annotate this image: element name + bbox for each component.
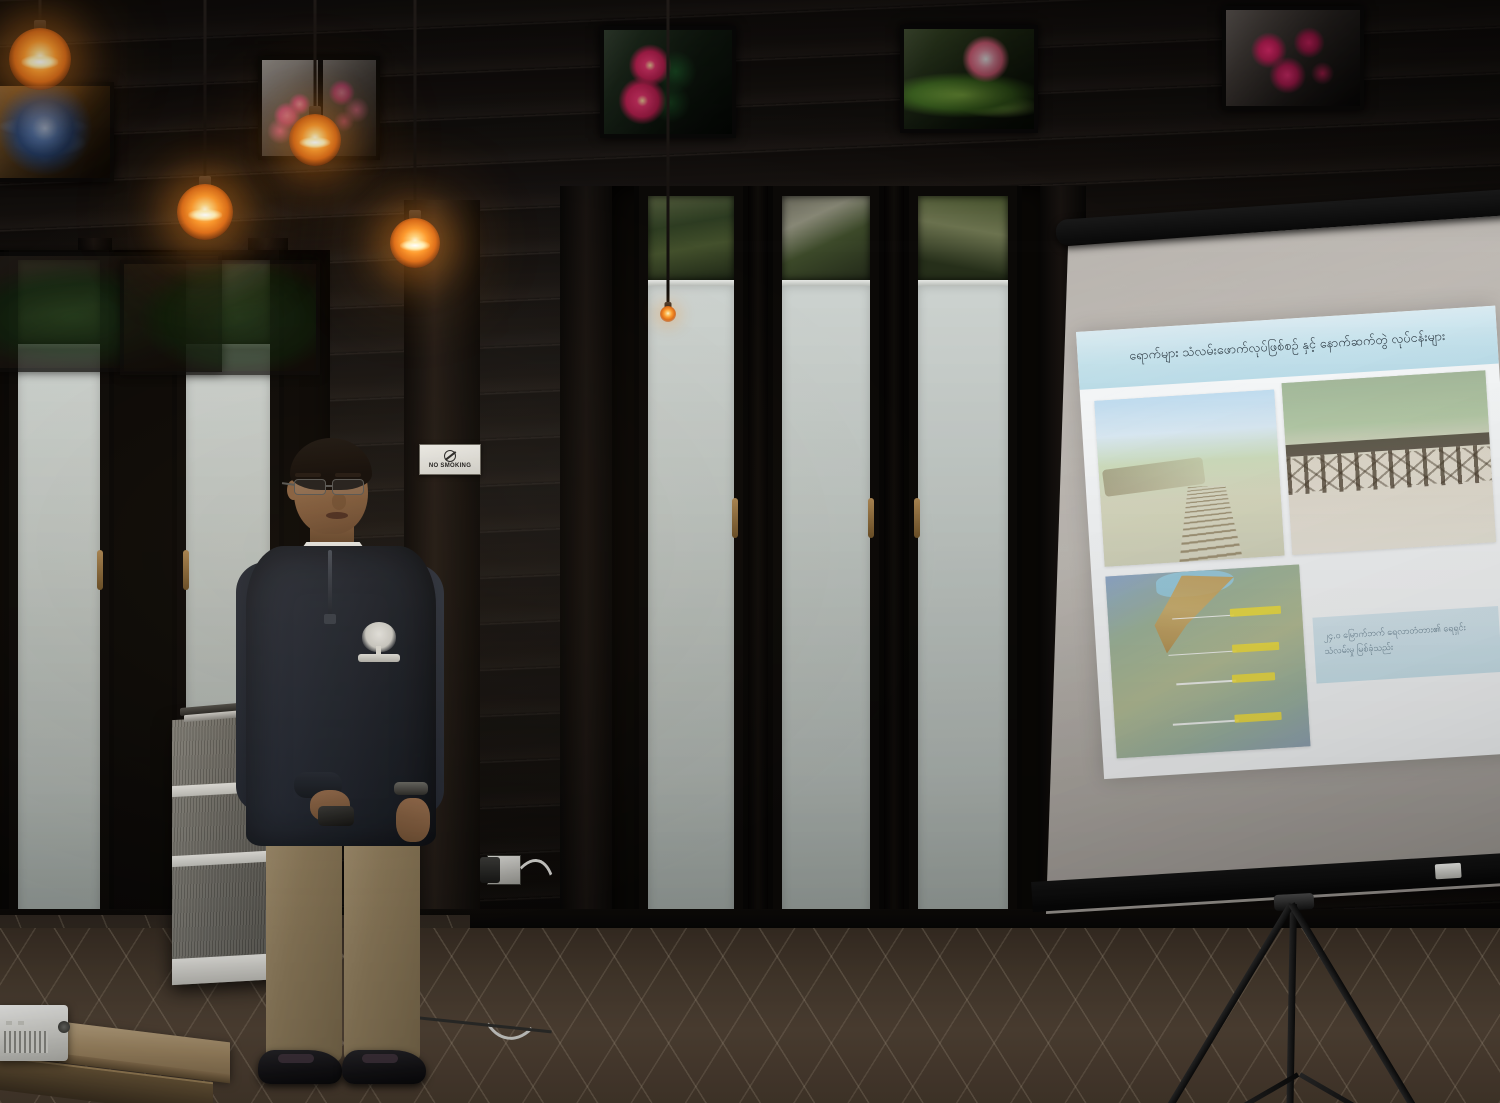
frame-shadow <box>124 264 316 371</box>
door-handle[interactable] <box>183 550 189 590</box>
presenter-right-hand <box>396 798 430 842</box>
wristwatch <box>394 782 428 795</box>
eyebrow <box>335 473 361 477</box>
pendant-light <box>8 0 72 106</box>
map-leader-line <box>1173 720 1239 726</box>
panel-aerial-map <box>1105 564 1310 758</box>
projector[interactable] <box>0 1005 68 1061</box>
presentation-photo: NO SMOKING <box>0 0 1500 1103</box>
rail-track <box>1179 485 1242 562</box>
map-label <box>1230 606 1281 617</box>
power-plug[interactable] <box>480 857 500 883</box>
pendant-light <box>389 0 441 272</box>
door-clear-pane <box>918 196 1008 280</box>
projection-screen-assembly: ရောက်များ သံလမ်းဖောက်လုပ်ဖြစ်စဉ် နှင့် န… <box>1006 214 1500 974</box>
light-cord <box>204 0 207 182</box>
projection-screen: ရောက်များ သံလမ်းဖောက်လုပ်ဖြစ်စဉ် နှင့် န… <box>1006 214 1500 914</box>
map-label <box>1235 711 1282 722</box>
panel-rail-embankment <box>1094 390 1284 567</box>
map-leader-line <box>1176 680 1236 685</box>
logo-banner <box>358 654 400 662</box>
chest-logo <box>356 622 402 670</box>
projector-indicator <box>6 1021 12 1025</box>
glass-door-panel[interactable] <box>768 186 884 956</box>
presenter <box>232 442 448 1062</box>
wall-pilaster <box>560 186 618 958</box>
pendant-light <box>288 0 342 170</box>
projector-lens-icon <box>58 1021 70 1033</box>
shoe <box>342 1050 426 1084</box>
door-mullion <box>748 186 768 956</box>
door-clear-pane <box>782 196 870 280</box>
art-bougainvillea <box>1222 6 1364 110</box>
map-label <box>1232 672 1275 683</box>
door-handle[interactable] <box>732 498 738 538</box>
projector-vent <box>4 1031 48 1053</box>
eyebrow <box>295 473 321 477</box>
door-handle[interactable] <box>914 498 920 538</box>
map-label <box>1232 642 1279 653</box>
door-frosted-pane <box>918 286 1008 934</box>
door-frosted-pane <box>18 350 100 928</box>
trouser-leg <box>266 814 342 1062</box>
trouser-leg <box>344 814 420 1062</box>
shoe <box>258 1050 342 1084</box>
nose <box>332 494 346 510</box>
slide-caption-box: ၂၄.၀ မြောက်ဘက် ရေလာတံတား၏ ရေရှင်း သံလမ်း… <box>1312 606 1500 684</box>
edison-bulb-icon <box>660 306 676 322</box>
door-frosted-pane <box>648 286 734 934</box>
panel-trestle-bridge <box>1282 370 1496 554</box>
zipper-pull-icon <box>324 614 336 624</box>
light-cord <box>414 0 417 216</box>
screen-handle[interactable] <box>1435 863 1462 880</box>
slide-title: ရောက်များ သံလမ်းဖောက်လုပ်ဖြစ်စဉ် နှင့် န… <box>1129 329 1446 367</box>
edison-bulb-icon <box>177 184 233 240</box>
edison-bulb-icon <box>289 114 341 166</box>
frame-glass-reflection <box>904 29 1034 129</box>
framed-photo <box>120 260 320 375</box>
glass-door-panel[interactable] <box>634 186 748 956</box>
pendant-light <box>176 0 234 240</box>
presenter-legs <box>266 814 426 1064</box>
zipper-track <box>328 550 332 618</box>
projector-indicator <box>18 1021 24 1025</box>
light-cord <box>667 0 670 306</box>
door-handle[interactable] <box>97 550 103 590</box>
map-leader-line <box>1169 650 1237 656</box>
light-cord <box>314 0 317 112</box>
slide: ရောက်များ သံလမ်းဖောက်လုပ်ဖြစ်စဉ် နှင့် န… <box>1076 306 1500 779</box>
pendant-light <box>655 0 681 324</box>
door-mullion <box>884 186 904 956</box>
presentation-clicker[interactable] <box>318 806 354 826</box>
edison-bulb-icon <box>9 28 71 90</box>
frame-glass-reflection <box>1226 10 1360 106</box>
mouth <box>326 512 348 519</box>
door-frosted-pane <box>782 286 870 934</box>
edison-bulb-icon <box>390 218 440 268</box>
art-water-lily <box>900 25 1038 133</box>
door-handle[interactable] <box>868 498 874 538</box>
eyeglasses-icon <box>292 479 372 495</box>
glass-door-panel[interactable] <box>904 186 1022 956</box>
